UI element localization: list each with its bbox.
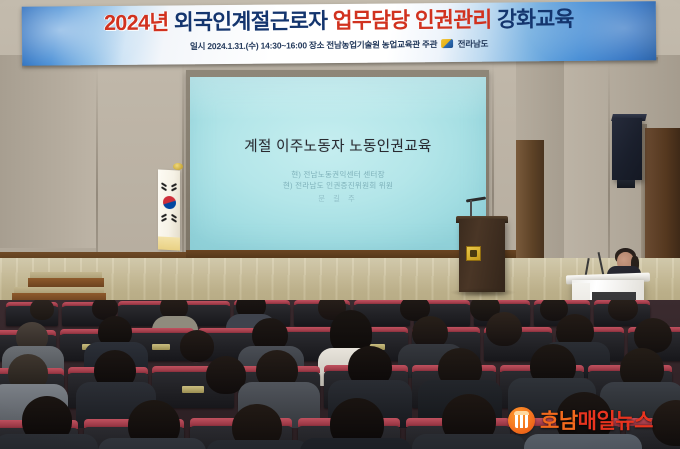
watermark-text-part2: 매일뉴스 [578, 410, 653, 433]
slide-subtitle-line1: 현) 전남노동권익센터 센터장 [190, 169, 486, 180]
banner-title-part3: 업무담당 [333, 8, 410, 33]
honam-maeil-news-logo-icon [508, 407, 535, 434]
banner-title-part4: 인권관리 [415, 8, 492, 33]
wall-speaker-bracket [617, 180, 635, 188]
flag-finial [173, 163, 183, 170]
banner-title-part2: 외국인계절근로자 [174, 9, 328, 34]
slide-subtitle-line2: 현) 전라남도 인권증진위원회 위원 [190, 180, 486, 191]
stage-step-riser [28, 278, 104, 287]
projection-screen: 계절 이주노동자 노동인권교육 현) 전남노동권익센터 센터장 현) 전라남도 … [190, 77, 486, 250]
banner-title-part5: 강화교육 [497, 7, 574, 32]
korean-flag-icon [158, 169, 180, 250]
watermark-text: 호남매일뉴스 [540, 405, 653, 435]
jeollanamdo-emblem-icon [442, 39, 454, 48]
flag-fringe [158, 236, 180, 250]
auditorium-photo: 2024년 외국인계절근로자 업무담당 인권관리 강화교육 일시 2024.1.… [0, 0, 680, 449]
watermark-text-part1: 호남 [540, 410, 578, 433]
banner-title-year: 2024년 [104, 10, 169, 35]
stage-side-curtain [516, 140, 544, 260]
podium-shadow [450, 288, 516, 297]
banner-subtitle-text: 일시 2024.1.31.(수) 14:30~16:00 장소 전남농업기술원 … [190, 39, 438, 51]
slide-title: 계절 이주노동자 노동인권교육 [190, 135, 486, 156]
banner-subtitle: 일시 2024.1.31.(수) 14:30~16:00 장소 전남농업기술원 … [22, 36, 656, 54]
banner-subtitle-org: 전라남도 [458, 39, 489, 49]
wall-speaker-icon [612, 118, 642, 180]
banner-title: 2024년 외국인계절근로자 업무담당 인권관리 강화교육 [22, 6, 656, 37]
event-banner: 2024년 외국인계절근로자 업무담당 인권관리 강화교육 일시 2024.1.… [22, 1, 656, 66]
taeguk-symbol-icon [163, 196, 176, 210]
podium-emblem-icon [466, 246, 481, 261]
watermark: 호남매일뉴스 [508, 405, 653, 435]
screen-glare [190, 77, 486, 121]
slide-presenter-name: 문 길 주 [190, 193, 486, 204]
